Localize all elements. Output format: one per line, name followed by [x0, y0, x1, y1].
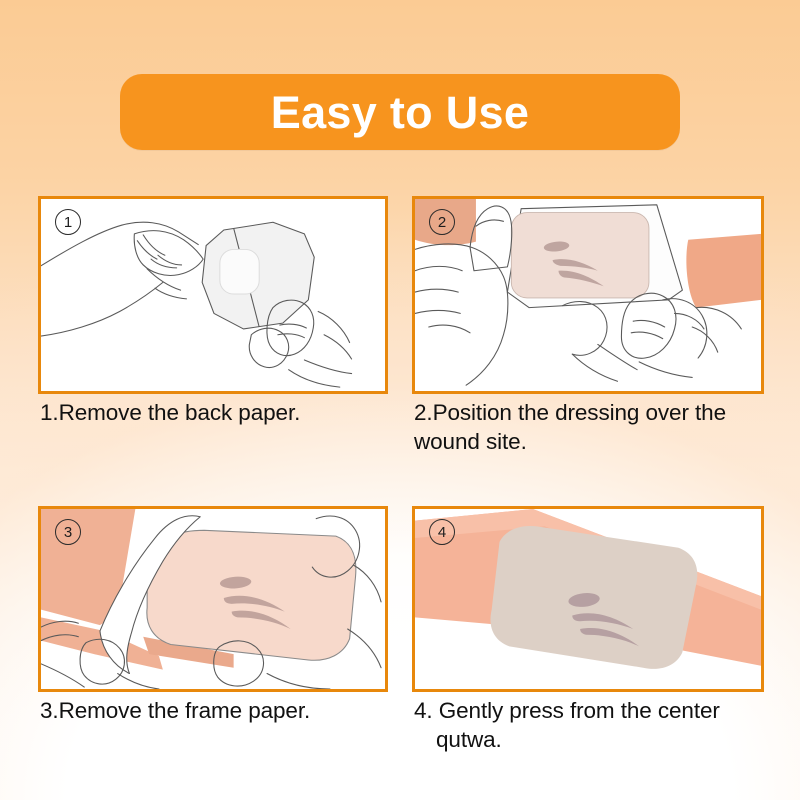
step-badge-2: 2	[429, 209, 455, 235]
step-caption-1: 1.Remove the back paper.	[40, 399, 400, 428]
step-image-frame-2: 2	[412, 196, 764, 394]
step-badge-4: 4	[429, 519, 455, 545]
step-caption-2: 2.Position the dressing over the wound s…	[414, 399, 774, 457]
step-card-1: 1 1.Remove the back paper.	[38, 196, 388, 436]
step-caption-4-line-1: 4. Gently press from the center	[414, 698, 720, 723]
step-image-frame-4: 4	[412, 506, 764, 692]
illustration-remove-frame-paper	[41, 509, 385, 689]
step-badge-1: 1	[55, 209, 81, 235]
step-caption-4: 4. Gently press from the center qutwa.	[414, 697, 784, 755]
step-card-2: 2 2.Position the dressing over the wound…	[412, 196, 764, 466]
step-caption-3: 3.Remove the frame paper.	[40, 697, 400, 726]
step-image-frame-1: 1	[38, 196, 388, 394]
illustration-remove-back-paper	[41, 199, 385, 391]
step-card-3: 3 3.Remove the frame paper.	[38, 506, 388, 746]
step-caption-4-line-2: qutwa.	[414, 726, 784, 755]
dressing-shape-3	[147, 530, 356, 660]
illustration-press-dressing-on-arm	[415, 509, 761, 689]
dressing-shape-2	[507, 205, 682, 308]
illustration-position-dressing	[415, 199, 761, 391]
step-badge-3: 3	[55, 519, 81, 545]
instruction-poster: Easy to Use	[0, 0, 800, 800]
steps-grid: 1 1.Remove the back paper.	[0, 0, 800, 800]
step-image-frame-3: 3	[38, 506, 388, 692]
step-card-4: 4 4. Gently press from the center qutwa.	[412, 506, 764, 776]
